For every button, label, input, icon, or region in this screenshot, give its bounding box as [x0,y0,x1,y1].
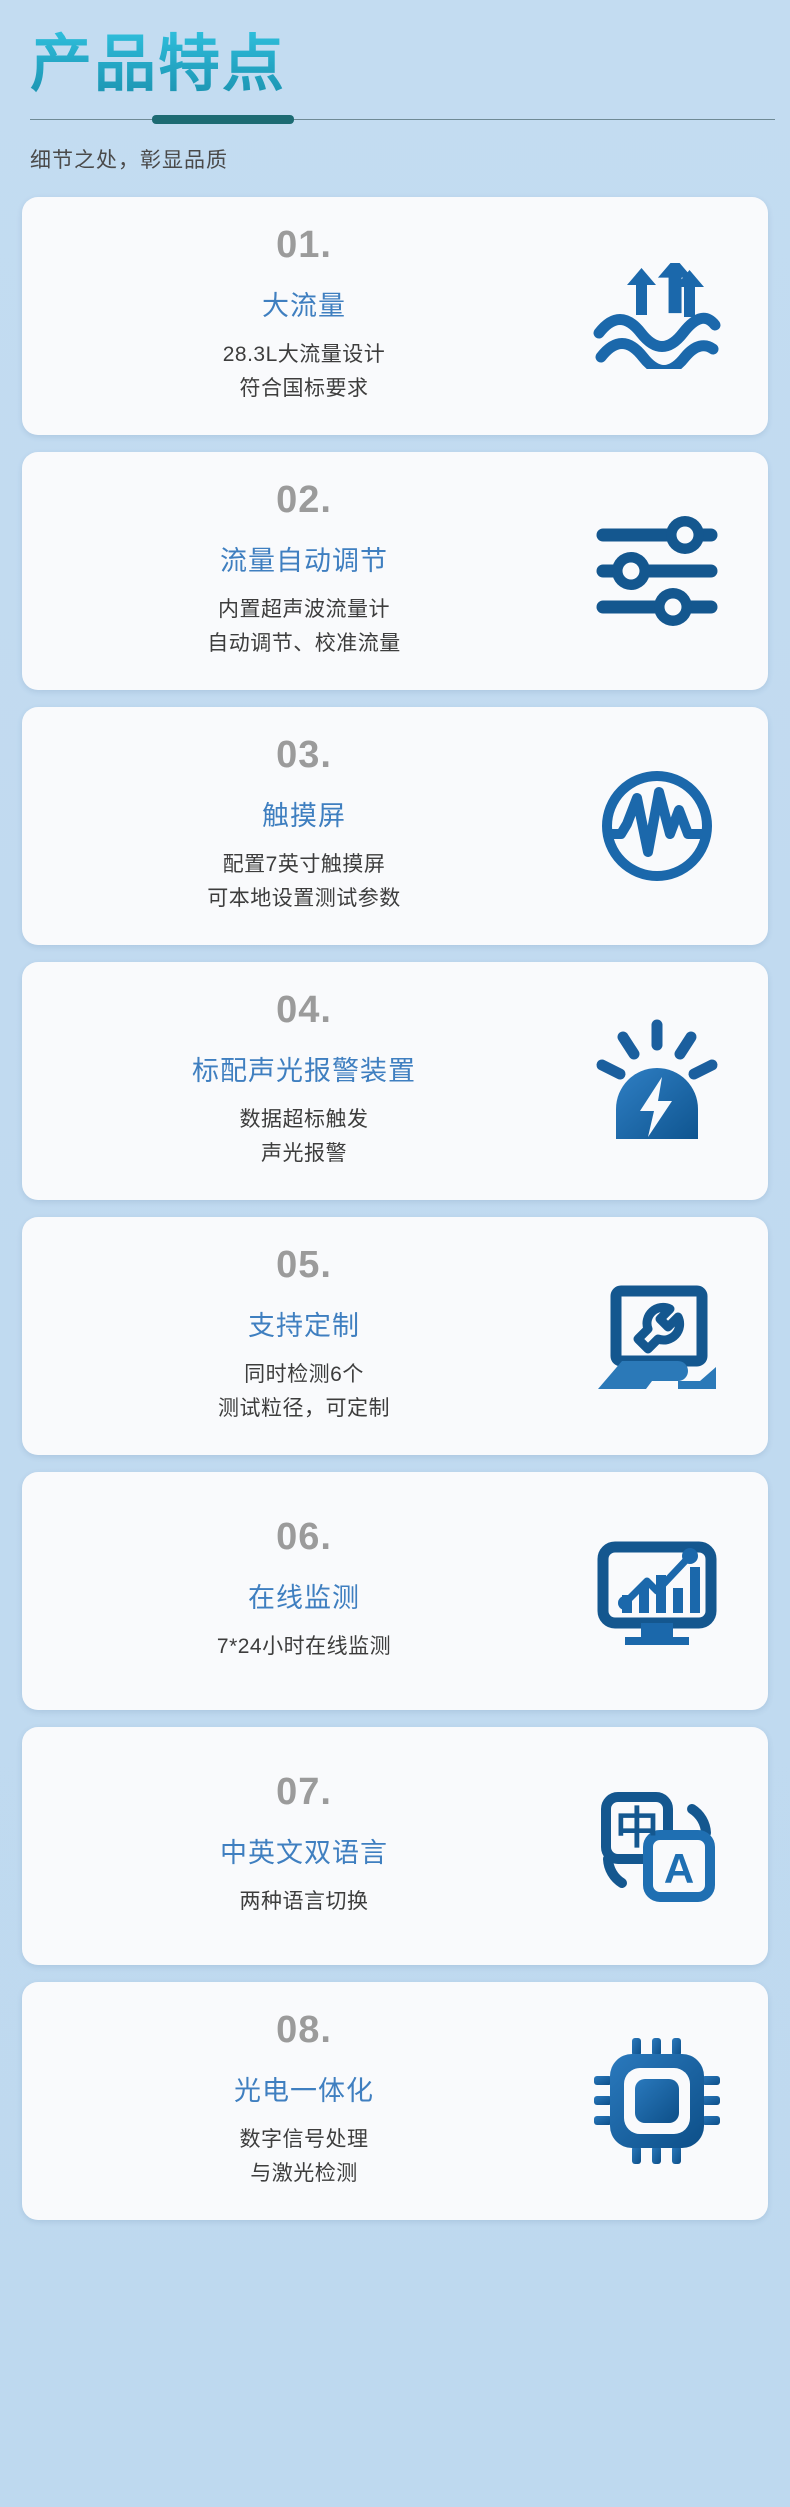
feature-card-text: 01. 大流量 28.3L大流量设计 符合国标要求 [22,226,572,406]
title-divider [30,115,775,125]
feature-card-text: 08. 光电一体化 数字信号处理 与激光检测 [22,2011,572,2191]
feature-number: 04. [40,991,568,1029]
feature-description: 同时检测6个 测试粒径，可定制 [40,1358,568,1426]
hand-laptop-wrench-icon [572,1256,742,1416]
feature-card[interactable]: 08. 光电一体化 数字信号处理 与激光检测 [22,1982,768,2220]
feature-title: 光电一体化 [40,2075,568,2107]
translate-icon: 中 A [572,1766,742,1926]
feature-title: 支持定制 [40,1310,568,1342]
feature-description-line: 配置7英寸触摸屏 [40,848,568,882]
feature-description-line: 28.3L大流量设计 [40,338,568,372]
feature-description-line: 符合国标要求 [40,372,568,406]
feature-card[interactable]: 05. 支持定制 同时检测6个 测试粒径，可定制 [22,1217,768,1455]
feature-card[interactable]: 01. 大流量 28.3L大流量设计 符合国标要求 [22,197,768,435]
divider-accent-bar [152,115,294,124]
monitor-chart-icon [572,1511,742,1671]
page-header: 产品特点 细节之处，彰显品质 [0,0,790,175]
feature-card-text: 05. 支持定制 同时检测6个 测试粒径，可定制 [22,1246,572,1426]
feature-title: 中英文双语言 [40,1837,568,1869]
feature-description-line: 声光报警 [40,1137,568,1171]
feature-number: 08. [40,2011,568,2049]
divider-line [30,119,775,120]
feature-title: 触摸屏 [40,800,568,832]
sliders-icon [572,491,742,651]
feature-number: 06. [40,1518,568,1556]
feature-description-line: 与激光检测 [40,2157,568,2191]
feature-number: 05. [40,1246,568,1284]
feature-description-line: 自动调节、校准流量 [40,627,568,661]
feature-card[interactable]: 02. 流量自动调节 内置超声波流量计 自动调节、校准流量 [22,452,768,690]
feature-number: 07. [40,1773,568,1811]
feature-description: 数字信号处理 与激光检测 [40,2123,568,2191]
feature-card-list: 01. 大流量 28.3L大流量设计 符合国标要求 [0,197,790,2220]
feature-title: 在线监测 [40,1582,568,1614]
feature-card[interactable]: 03. 触摸屏 配置7英寸触摸屏 可本地设置测试参数 [22,707,768,945]
feature-description-line: 内置超声波流量计 [40,593,568,627]
feature-card[interactable]: 07. 中英文双语言 两种语言切换 中 A [22,1727,768,1965]
feature-card-text: 04. 标配声光报警装置 数据超标触发 声光报警 [22,991,572,1171]
feature-card-text: 03. 触摸屏 配置7英寸触摸屏 可本地设置测试参数 [22,736,572,916]
feature-description: 配置7英寸触摸屏 可本地设置测试参数 [40,848,568,916]
page-title: 产品特点 [30,30,286,99]
feature-description-line: 数据超标触发 [40,1103,568,1137]
feature-description-line: 7*24小时在线监测 [40,1630,568,1664]
chip-icon [572,2021,742,2181]
product-features-page: 产品特点 细节之处，彰显品质 01. 大流量 28.3L大流量设计 符合国标要求 [0,0,790,2507]
feature-description: 内置超声波流量计 自动调节、校准流量 [40,593,568,661]
svg-text:A: A [664,1845,694,1892]
feature-description-line: 数字信号处理 [40,2123,568,2157]
feature-card[interactable]: 06. 在线监测 7*24小时在线监测 [22,1472,768,1710]
feature-card-text: 07. 中英文双语言 两种语言切换 [22,1773,572,1919]
feature-card-text: 06. 在线监测 7*24小时在线监测 [22,1518,572,1664]
waves-up-arrows-icon [572,236,742,396]
feature-card-text: 02. 流量自动调节 内置超声波流量计 自动调节、校准流量 [22,481,572,661]
feature-number: 03. [40,736,568,774]
feature-description-line: 测试粒径，可定制 [40,1392,568,1426]
feature-title: 标配声光报警装置 [40,1055,568,1087]
feature-number: 01. [40,226,568,264]
feature-title: 流量自动调节 [40,545,568,577]
feature-title: 大流量 [40,290,568,322]
page-subtitle: 细节之处，彰显品质 [30,147,760,174]
feature-description: 数据超标触发 声光报警 [40,1103,568,1171]
feature-description-line: 可本地设置测试参数 [40,882,568,916]
alarm-beacon-icon [572,1001,742,1161]
feature-description: 两种语言切换 [40,1885,568,1919]
feature-description: 7*24小时在线监测 [40,1630,568,1664]
feature-description-line: 同时检测6个 [40,1358,568,1392]
waveform-circle-icon [572,746,742,906]
feature-description-line: 两种语言切换 [40,1885,568,1919]
feature-card[interactable]: 04. 标配声光报警装置 数据超标触发 声光报警 [22,962,768,1200]
feature-number: 02. [40,481,568,519]
feature-description: 28.3L大流量设计 符合国标要求 [40,338,568,406]
svg-text:中: 中 [615,1804,659,1853]
